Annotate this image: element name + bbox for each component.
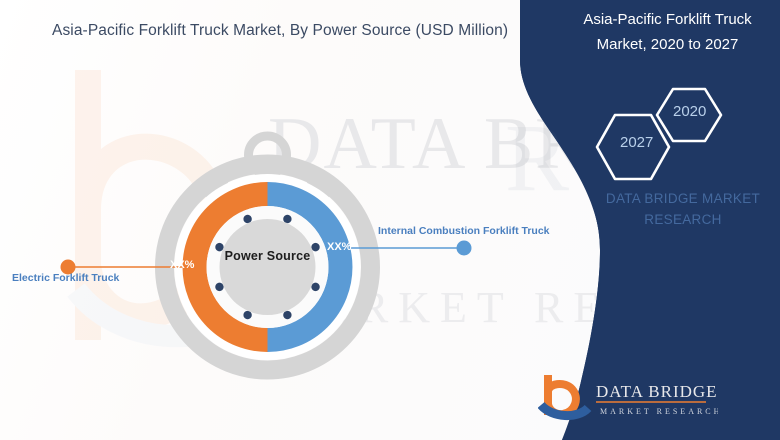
logo-tagline: MARKET RESEARCH (600, 407, 718, 416)
value-label-internal-combustion-forklift-truck: XX% (327, 241, 351, 253)
brand-caption-line1: DATA BRIDGE MARKET (588, 188, 778, 209)
callout-label-internal-combustion-forklift-truck[interactable]: Internal Combustion Forklift Truck (378, 225, 550, 237)
svg-text:R: R (505, 104, 569, 211)
infographic-canvas: DATA BRIDGE MARKET RESEARCH R Asia-Pacif… (0, 0, 780, 440)
brand-caption: DATA BRIDGE MARKET RESEARCH (588, 188, 778, 230)
data-bridge-logo[interactable]: DATA BRIDGE MARKET RESEARCH (538, 375, 718, 421)
right-panel-title-line2: Market, 2020 to 2027 (560, 32, 775, 57)
value-label-electric-forklift-truck: XX% (170, 259, 194, 271)
center-disc (220, 219, 316, 315)
right-panel-title-line1: Asia-Pacific Forklift Truck (560, 7, 775, 32)
year-hexagons (595, 85, 745, 185)
right-panel-title: Asia-Pacific Forklift Truck Market, 2020… (560, 7, 775, 57)
brand-caption-line2: RESEARCH (588, 209, 778, 230)
page-title: Asia-Pacific Forklift Truck Market, By P… (52, 22, 522, 40)
logo-wordmark: DATA BRIDGE (596, 382, 718, 401)
callout-label-electric-forklift-truck[interactable]: Electric Forklift Truck (12, 272, 119, 284)
hexagon-2027-label: 2027 (620, 134, 653, 151)
data-bridge-logo-mark-icon (541, 379, 588, 416)
hexagon-2020-label: 2020 (673, 103, 706, 120)
